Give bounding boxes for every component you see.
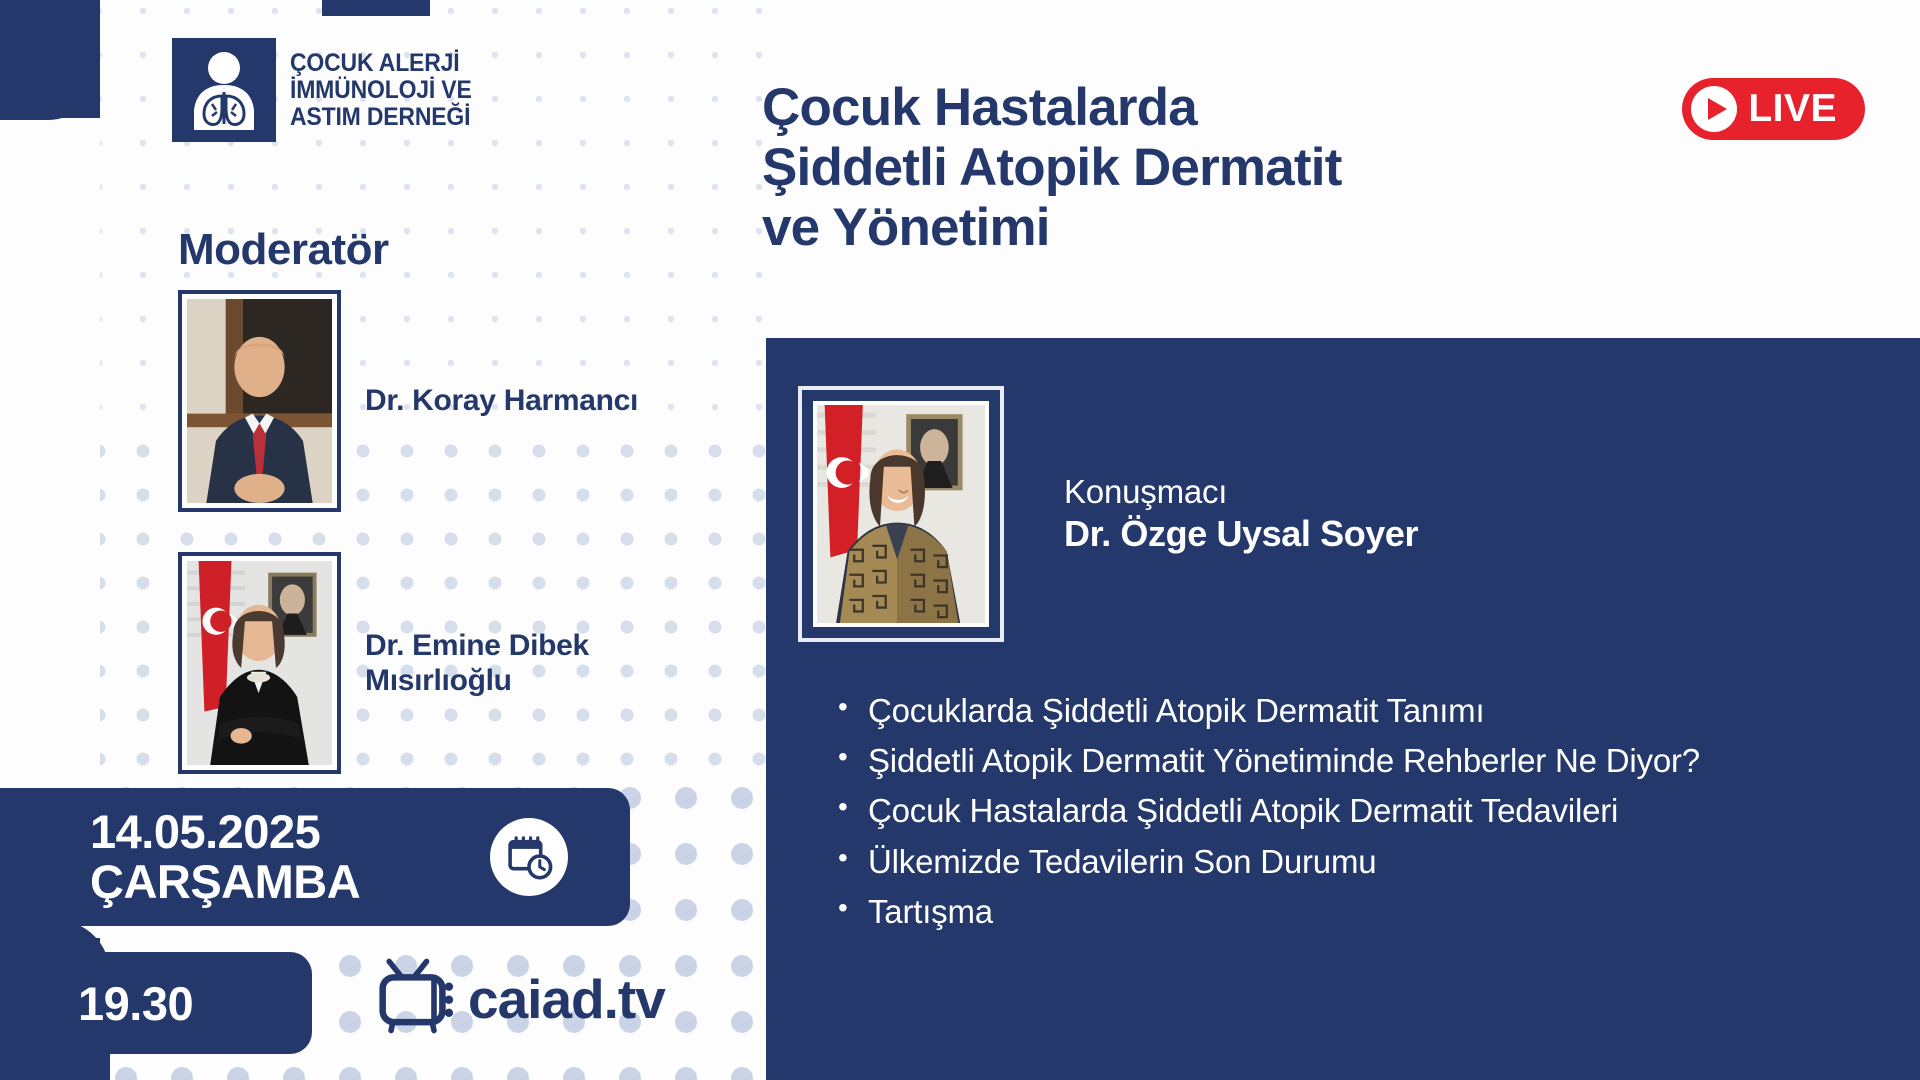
list-item: Tartışma [868, 891, 1920, 933]
live-label: LIVE [1748, 87, 1837, 131]
speaker-block: Konuşmacı Dr. Özge Uysal Soyer [798, 386, 1418, 642]
top-tab-shape [322, 0, 430, 16]
list-item: Çocuk Hastalarda Şiddetli Atopik Dermati… [868, 790, 1920, 832]
speaker-photo-frame [798, 386, 1004, 642]
speaker-photo-inner-frame [808, 396, 994, 632]
moderator-1-photo-frame [178, 290, 341, 512]
page-title: Çocuk Hastalarda Şiddetli Atopik Dermati… [762, 78, 1622, 258]
live-badge[interactable]: LIVE [1682, 78, 1865, 140]
topics-list: Çocuklarda Şiddetli Atopik Dermatit Tanı… [826, 690, 1920, 941]
portrait-female-flag [187, 561, 332, 765]
time-chip: 19.30 [0, 952, 312, 1054]
portrait-female-flag-patterned [817, 405, 985, 623]
moderator-heading: Moderatör [178, 225, 389, 275]
date-text: 14.05.2025 ÇARŞAMBA [90, 807, 360, 907]
list-item: Ülkemizde Tedavilerin Son Durumu [868, 841, 1920, 883]
site-row[interactable]: caiad.tv [378, 958, 665, 1039]
calendar-clock-icon [490, 818, 568, 896]
speaker-role: Konuşmacı [1064, 473, 1418, 511]
association-logo: ÇOCUK ALERJİ İMMÜNOLOJİ VE ASTIM DERNEĞİ [172, 38, 487, 142]
date-chip: 14.05.2025 ÇARŞAMBA [0, 788, 630, 926]
moderator-2-name: Dr. Emine Dibek Mısırlıoğlu [365, 628, 665, 699]
association-name: ÇOCUK ALERJİ İMMÜNOLOJİ VE ASTIM DERNEĞİ [290, 50, 472, 131]
person-lungs-icon [172, 38, 276, 142]
portrait-male-suit [187, 299, 332, 503]
play-icon [1691, 86, 1737, 132]
content-panel: Konuşmacı Dr. Özge Uysal Soyer Çocuklard… [766, 338, 1920, 1080]
corner-shape-top-left [0, 0, 100, 120]
retro-tv-icon [378, 958, 462, 1039]
moderator-1: Dr. Koray Harmancı [178, 290, 638, 512]
webinar-poster: ÇOCUK ALERJİ İMMÜNOLOJİ VE ASTIM DERNEĞİ… [0, 0, 1920, 1080]
list-item: Şiddetli Atopik Dermatit Yönetiminde Reh… [868, 740, 1920, 782]
site-url[interactable]: caiad.tv [468, 967, 665, 1031]
speaker-name: Dr. Özge Uysal Soyer [1064, 513, 1418, 555]
list-item: Çocuklarda Şiddetli Atopik Dermatit Tanı… [868, 690, 1920, 732]
moderator-2: Dr. Emine Dibek Mısırlıoğlu [178, 552, 665, 774]
moderator-2-photo-frame [178, 552, 341, 774]
moderator-1-name: Dr. Koray Harmancı [365, 383, 638, 418]
time-text: 19.30 [78, 976, 193, 1031]
speaker-labels: Konuşmacı Dr. Özge Uysal Soyer [1064, 473, 1418, 555]
